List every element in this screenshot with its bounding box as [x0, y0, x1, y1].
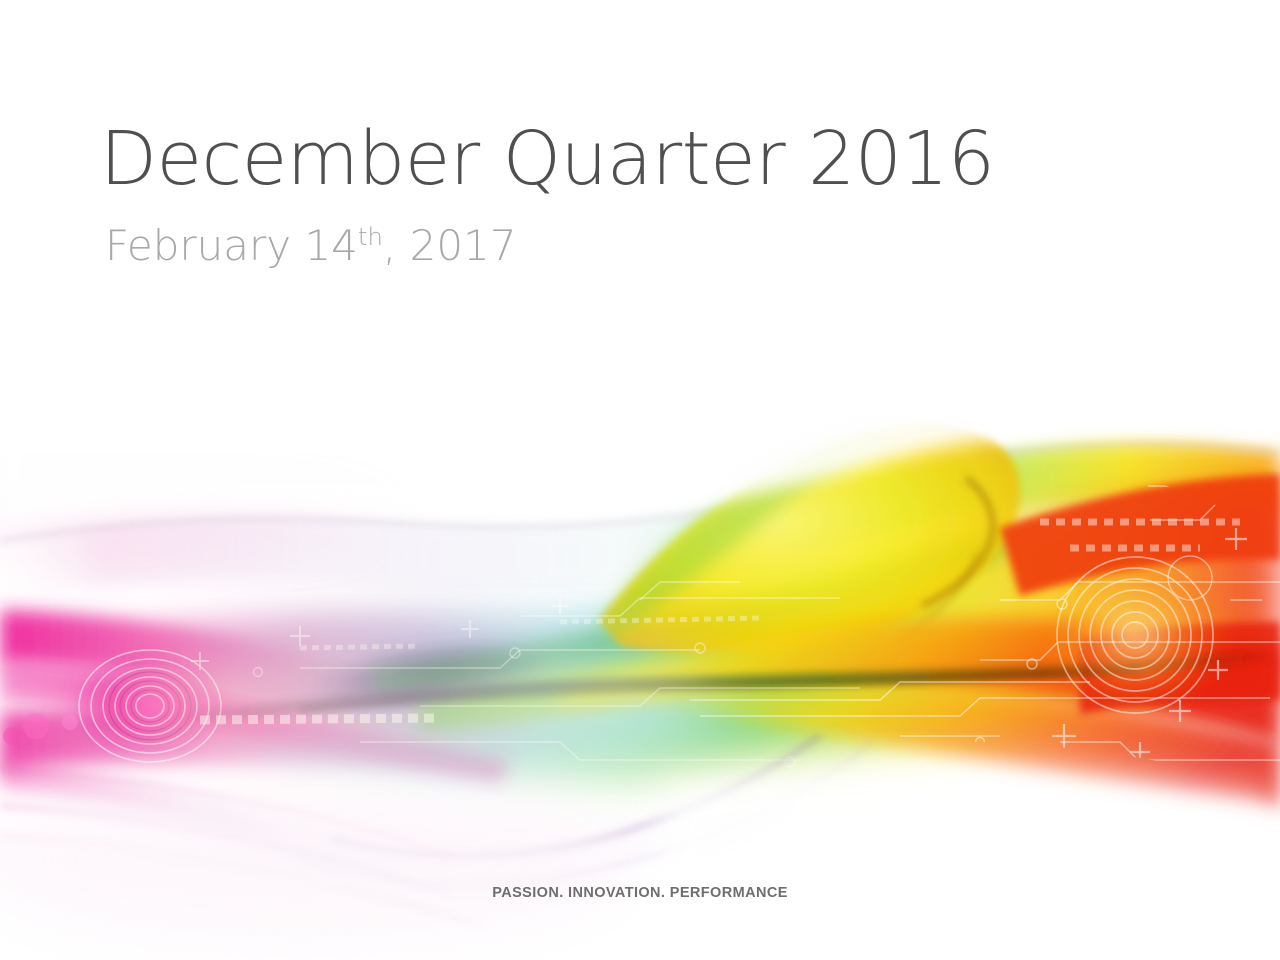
left-bubbles [3, 713, 78, 745]
indigo-knot [297, 626, 563, 725]
concentric-rings-right [1057, 557, 1213, 713]
concentric-rings-left-inner [109, 672, 191, 740]
pink-haze-upper-left [0, 499, 400, 556]
red-wedge [1080, 622, 1280, 714]
concentric-rings-left [79, 650, 221, 762]
bottom-right-mask [660, 762, 1280, 960]
pink-focal-glow [72, 654, 228, 758]
dashed-data-bar-mid [300, 618, 760, 648]
company-tagline: PASSION. INNOVATION. PERFORMANCE [0, 885, 1280, 901]
circuit-traces-right [690, 470, 1280, 776]
yellow-lobe [600, 424, 1020, 653]
title-block: December Quarter 2016 February 14th, 201… [100, 122, 1100, 270]
lobe-green-tint [600, 432, 906, 640]
hot-band [560, 617, 1280, 744]
subtitle-date-prefix: February 14 [105, 221, 358, 270]
green-core-streak [370, 530, 1006, 694]
purple-arc [330, 736, 820, 856]
bottom-left-wash [0, 780, 630, 940]
page-title: December Quarter 2016 [100, 122, 1100, 197]
presentation-slide: December Quarter 2016 February 14th, 201… [0, 0, 1280, 960]
plus-marks-right [1052, 528, 1247, 762]
magenta-tail [0, 760, 410, 884]
wisp-tail-1 [0, 806, 456, 896]
cream-haze [120, 634, 720, 766]
magenta-band-core [0, 660, 510, 782]
dashed-data-bar-left [200, 718, 440, 720]
green-leading-edge [420, 558, 1020, 730]
inner-leaf [250, 702, 1040, 787]
lobe-curl-crease-2 [900, 552, 978, 640]
wisp-tail-2 [0, 836, 486, 928]
upper-ribbon-edge [0, 444, 1280, 541]
lavender-underfill [330, 728, 860, 866]
dashed-data-bar-right [1040, 522, 1240, 548]
red-upper-sliver [1000, 474, 1280, 596]
subtitle-year: , 2017 [383, 221, 517, 270]
purple-arc-2 [300, 742, 872, 885]
slide-subtitle: February 14th, 2017 [105, 223, 1100, 269]
magenta-sweep-upper [0, 610, 560, 760]
main-ribbon [0, 491, 1280, 756]
dark-core-thin [300, 670, 1140, 710]
plus-marks-middle [191, 598, 568, 670]
magenta-sweep-lower [0, 710, 570, 778]
subtitle-ordinal-suffix: th [358, 222, 383, 251]
hot-band-lower [640, 689, 1280, 808]
dark-core-streak [180, 654, 1280, 718]
wisp-tail-3 [0, 770, 450, 856]
upper-ribbon [0, 443, 1280, 596]
orange-focal-glow [1039, 561, 1231, 709]
lobe-curl-crease [922, 478, 993, 606]
circuit-traces-middle [254, 582, 861, 767]
